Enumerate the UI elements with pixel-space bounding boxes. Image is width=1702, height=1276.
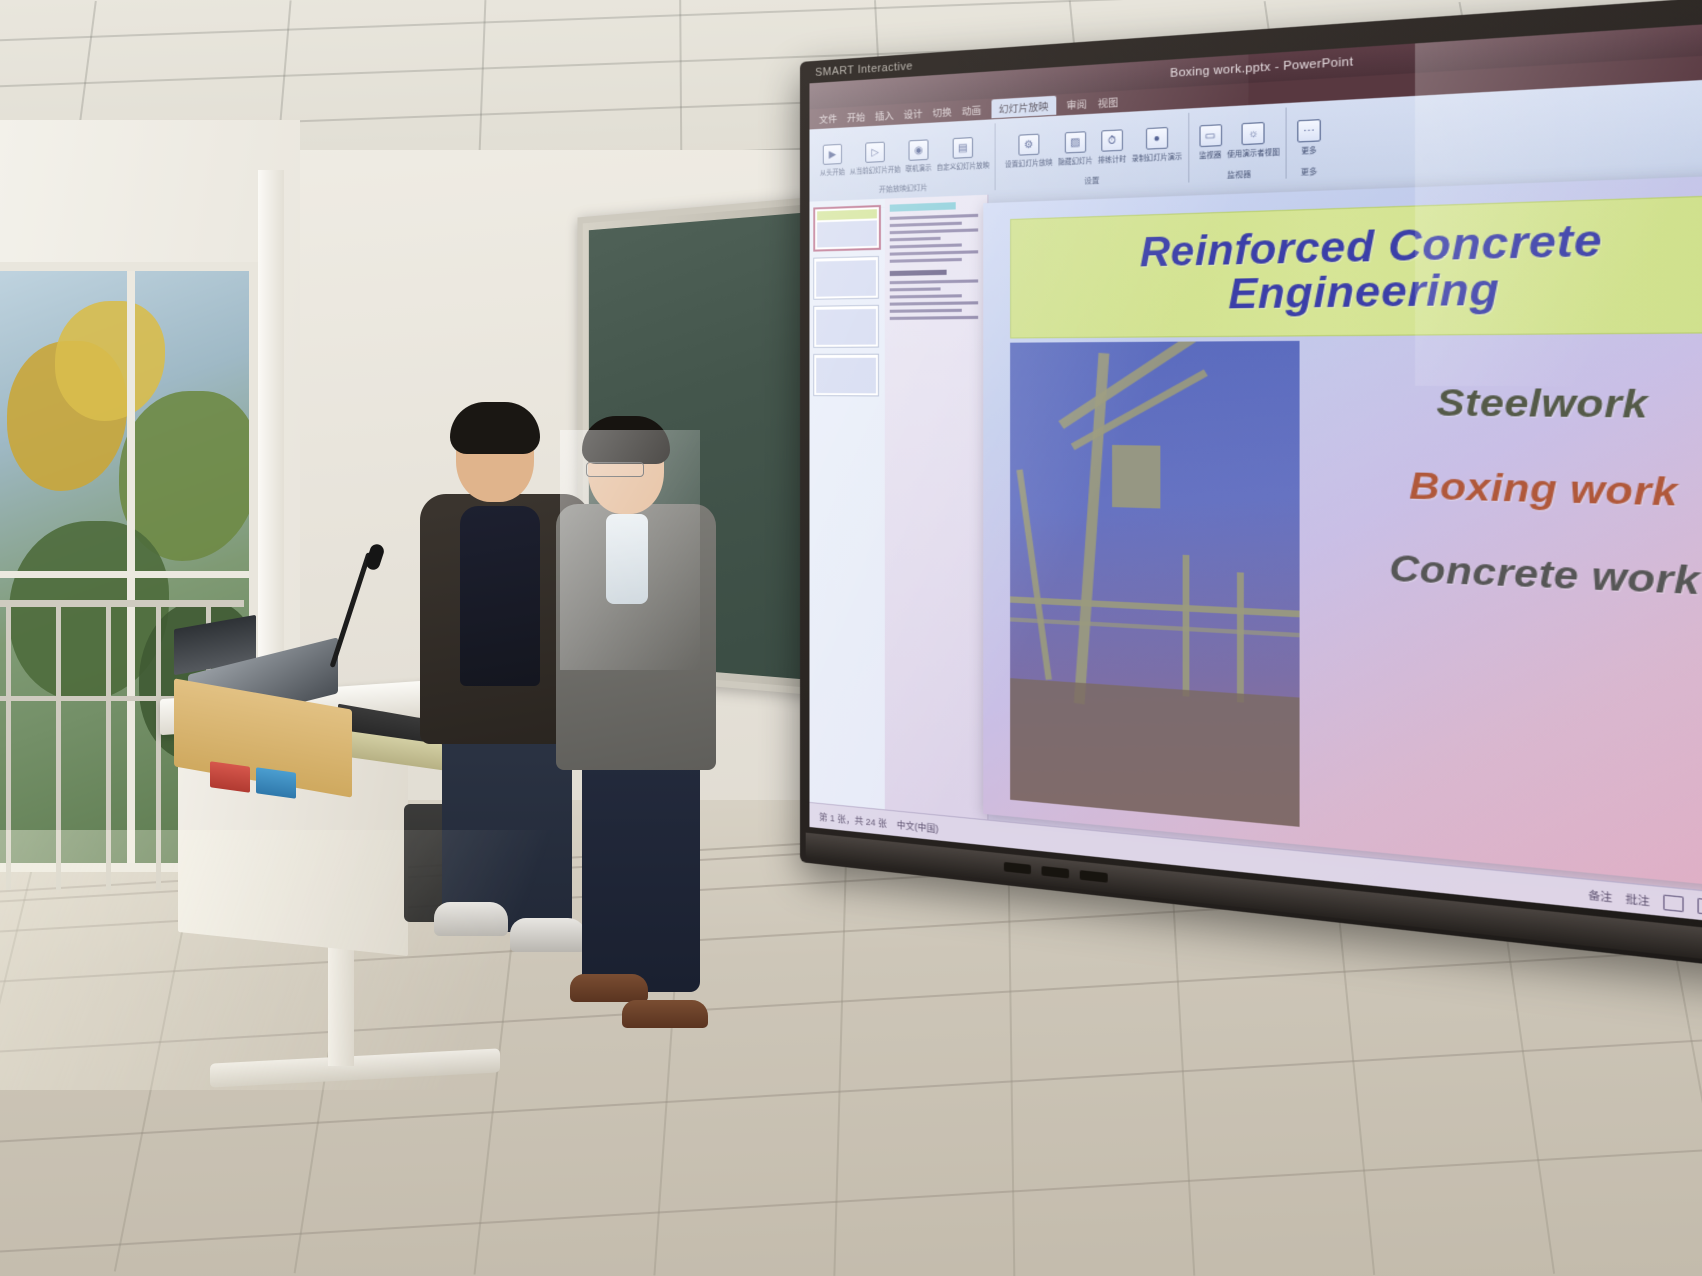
person-with-glasses bbox=[548, 418, 738, 1058]
sorter-view-icon[interactable] bbox=[1697, 897, 1702, 915]
thumbnail-body bbox=[817, 220, 877, 247]
hide-slide-icon: ▨ bbox=[1065, 131, 1086, 153]
person-b-legs bbox=[582, 760, 700, 992]
monitor-icon: ▭ bbox=[1199, 124, 1222, 147]
slide-indicator: 第 1 张，共 24 张 bbox=[819, 809, 887, 829]
slide-title-box: Reinforced Concrete Engineering bbox=[1010, 194, 1702, 339]
classroom-scene: SMART Interactive Boxing work.pptx - Pow… bbox=[0, 0, 1702, 1276]
tab-insert[interactable]: 插入 bbox=[875, 107, 894, 122]
person-a-shoe bbox=[434, 902, 508, 936]
doc-text-line bbox=[890, 287, 940, 291]
tab-animations[interactable]: 动画 bbox=[962, 102, 981, 118]
ribbon-button-from-beginning[interactable]: ▶ 从头开始 bbox=[820, 144, 845, 177]
slide-title-line-2: Engineering bbox=[1228, 269, 1499, 318]
ribbon-button-monitor[interactable]: ▭ 监视器 bbox=[1199, 124, 1222, 160]
doc-text-line bbox=[890, 214, 979, 220]
thumbnail-title-band bbox=[817, 209, 877, 220]
ribbon-group-monitors: ▭ 监视器 ☼ 使用演示者视图 监视器 bbox=[1193, 107, 1286, 182]
ribbon-button-custom-show[interactable]: ▤ 自定义幻灯片放映 bbox=[937, 136, 990, 172]
usb-port-icon bbox=[1042, 866, 1070, 879]
settings-icon: ⚙ bbox=[1018, 134, 1039, 156]
slide-title-line-1: Reinforced Concrete bbox=[1140, 219, 1603, 276]
more-icon: ⋯ bbox=[1297, 119, 1321, 143]
doc-text-line bbox=[890, 279, 979, 284]
person-b-shoe bbox=[570, 974, 648, 1002]
doc-heading-highlight bbox=[890, 202, 956, 212]
doc-subheading bbox=[890, 270, 947, 276]
interactive-smartboard[interactable]: SMART Interactive Boxing work.pptx - Pow… bbox=[800, 0, 1702, 1052]
slide-bullet-steelwork: Steelwork bbox=[1436, 381, 1647, 428]
doc-text-line bbox=[890, 237, 940, 242]
person-b-shirt bbox=[606, 514, 648, 604]
reference-document-pane[interactable] bbox=[885, 195, 989, 821]
ribbon-group-setup: ⚙ 设置幻灯片放映 ▨ 隐藏幻灯片 ⏱ 排练计时 bbox=[1000, 113, 1189, 190]
blue-equipment-box bbox=[256, 767, 296, 799]
ribbon-button-presenter-view[interactable]: ☼ 使用演示者视图 bbox=[1227, 121, 1279, 159]
ribbon-group-start-slideshow: ▶ 从头开始 ▷ 从当前幻灯片开始 ◉ 联机演示 bbox=[815, 123, 995, 197]
slide-bullet-boxing-work: Boxing work bbox=[1409, 464, 1677, 516]
smartboard-screen[interactable]: Boxing work.pptx - PowerPoint 文件 开始 插入 设… bbox=[809, 17, 1702, 932]
doc-text-line bbox=[890, 258, 962, 263]
ribbon-button-more[interactable]: ⋯ 更多 bbox=[1297, 119, 1321, 156]
doc-text-line bbox=[890, 222, 962, 227]
person-a-hair bbox=[450, 402, 540, 454]
doc-text-line bbox=[890, 301, 979, 305]
person-a-shirt bbox=[460, 506, 540, 686]
smartboard-brand-label: SMART Interactive bbox=[815, 60, 913, 79]
tab-home[interactable]: 开始 bbox=[847, 109, 865, 124]
slide-thumbnail[interactable] bbox=[813, 354, 879, 397]
slide-bullet-concrete-work: Concrete work bbox=[1389, 547, 1700, 605]
presenter-view-icon: ☼ bbox=[1242, 122, 1265, 145]
person-b-shoe bbox=[622, 1000, 708, 1028]
slide-thumbnail[interactable] bbox=[813, 256, 879, 300]
hdmi-port-icon bbox=[1004, 862, 1031, 874]
slide-thumbnail[interactable] bbox=[813, 305, 879, 348]
glasses-icon bbox=[586, 462, 644, 477]
tab-slideshow[interactable]: 幻灯片放映 bbox=[992, 96, 1056, 119]
ribbon-button-setup-show[interactable]: ⚙ 设置幻灯片放映 bbox=[1005, 133, 1053, 169]
play-current-icon: ▷ bbox=[865, 142, 885, 163]
slide-thumbnail[interactable] bbox=[813, 205, 881, 252]
slide-bullet-list: Steelwork Boxing work Concrete work bbox=[1326, 381, 1702, 608]
powerpoint-window[interactable]: Boxing work.pptx - PowerPoint 文件 开始 插入 设… bbox=[809, 17, 1702, 932]
record-icon: ● bbox=[1146, 127, 1168, 150]
person-b-hair bbox=[582, 416, 670, 464]
play-icon: ▶ bbox=[823, 144, 842, 165]
smartboard-bezel: SMART Interactive Boxing work.pptx - Pow… bbox=[800, 0, 1702, 978]
doc-text-line bbox=[890, 294, 962, 298]
ribbon-button-rehearse-timings[interactable]: ⏱ 排练计时 bbox=[1098, 129, 1126, 165]
tab-review[interactable]: 审阅 bbox=[1067, 96, 1087, 112]
ribbon-group-more: ⋯ 更多 更多 bbox=[1291, 105, 1326, 178]
thumbnail-body bbox=[816, 260, 876, 297]
comments-button[interactable]: 批注 bbox=[1625, 890, 1649, 908]
powerpoint-title-text: Boxing work.pptx - PowerPoint bbox=[1170, 55, 1353, 80]
thumbnail-body bbox=[816, 358, 876, 394]
tab-design[interactable]: 设计 bbox=[904, 106, 923, 121]
ribbon-button-from-current[interactable]: ▷ 从当前幻灯片开始 bbox=[850, 141, 901, 176]
window-mullion bbox=[0, 571, 249, 578]
tab-transitions[interactable]: 切换 bbox=[933, 104, 952, 120]
tab-file[interactable]: 文件 bbox=[819, 111, 837, 126]
doc-text-line bbox=[890, 243, 962, 248]
slide-crane-photo bbox=[1010, 341, 1299, 827]
ribbon-button-present-online[interactable]: ◉ 联机演示 bbox=[906, 139, 932, 173]
tab-view[interactable]: 视图 bbox=[1098, 94, 1119, 110]
slide-canvas[interactable]: Reinforced Concrete Engineering bbox=[983, 173, 1702, 894]
doc-text-line bbox=[890, 309, 962, 313]
ribbon-button-hide-slide[interactable]: ▨ 隐藏幻灯片 bbox=[1058, 131, 1093, 167]
slide-thumbnail-panel[interactable] bbox=[809, 198, 893, 811]
custom-show-icon: ▤ bbox=[953, 137, 973, 159]
doc-text-line bbox=[890, 228, 979, 234]
doc-text-line bbox=[890, 316, 979, 320]
normal-view-icon[interactable] bbox=[1663, 894, 1683, 912]
red-equipment-box bbox=[210, 761, 250, 793]
ribbon-button-record-slideshow[interactable]: ● 录制幻灯片演示 bbox=[1132, 126, 1182, 163]
thumbnail-body bbox=[816, 309, 876, 345]
notes-button[interactable]: 备注 bbox=[1588, 886, 1612, 904]
floor-tile-line bbox=[0, 1149, 1702, 1252]
power-port-icon bbox=[1080, 870, 1108, 883]
doc-text-line bbox=[890, 250, 979, 255]
broadcast-icon: ◉ bbox=[909, 139, 929, 161]
rehearse-icon: ⏱ bbox=[1101, 129, 1123, 152]
language-indicator[interactable]: 中文(中国) bbox=[897, 817, 939, 835]
